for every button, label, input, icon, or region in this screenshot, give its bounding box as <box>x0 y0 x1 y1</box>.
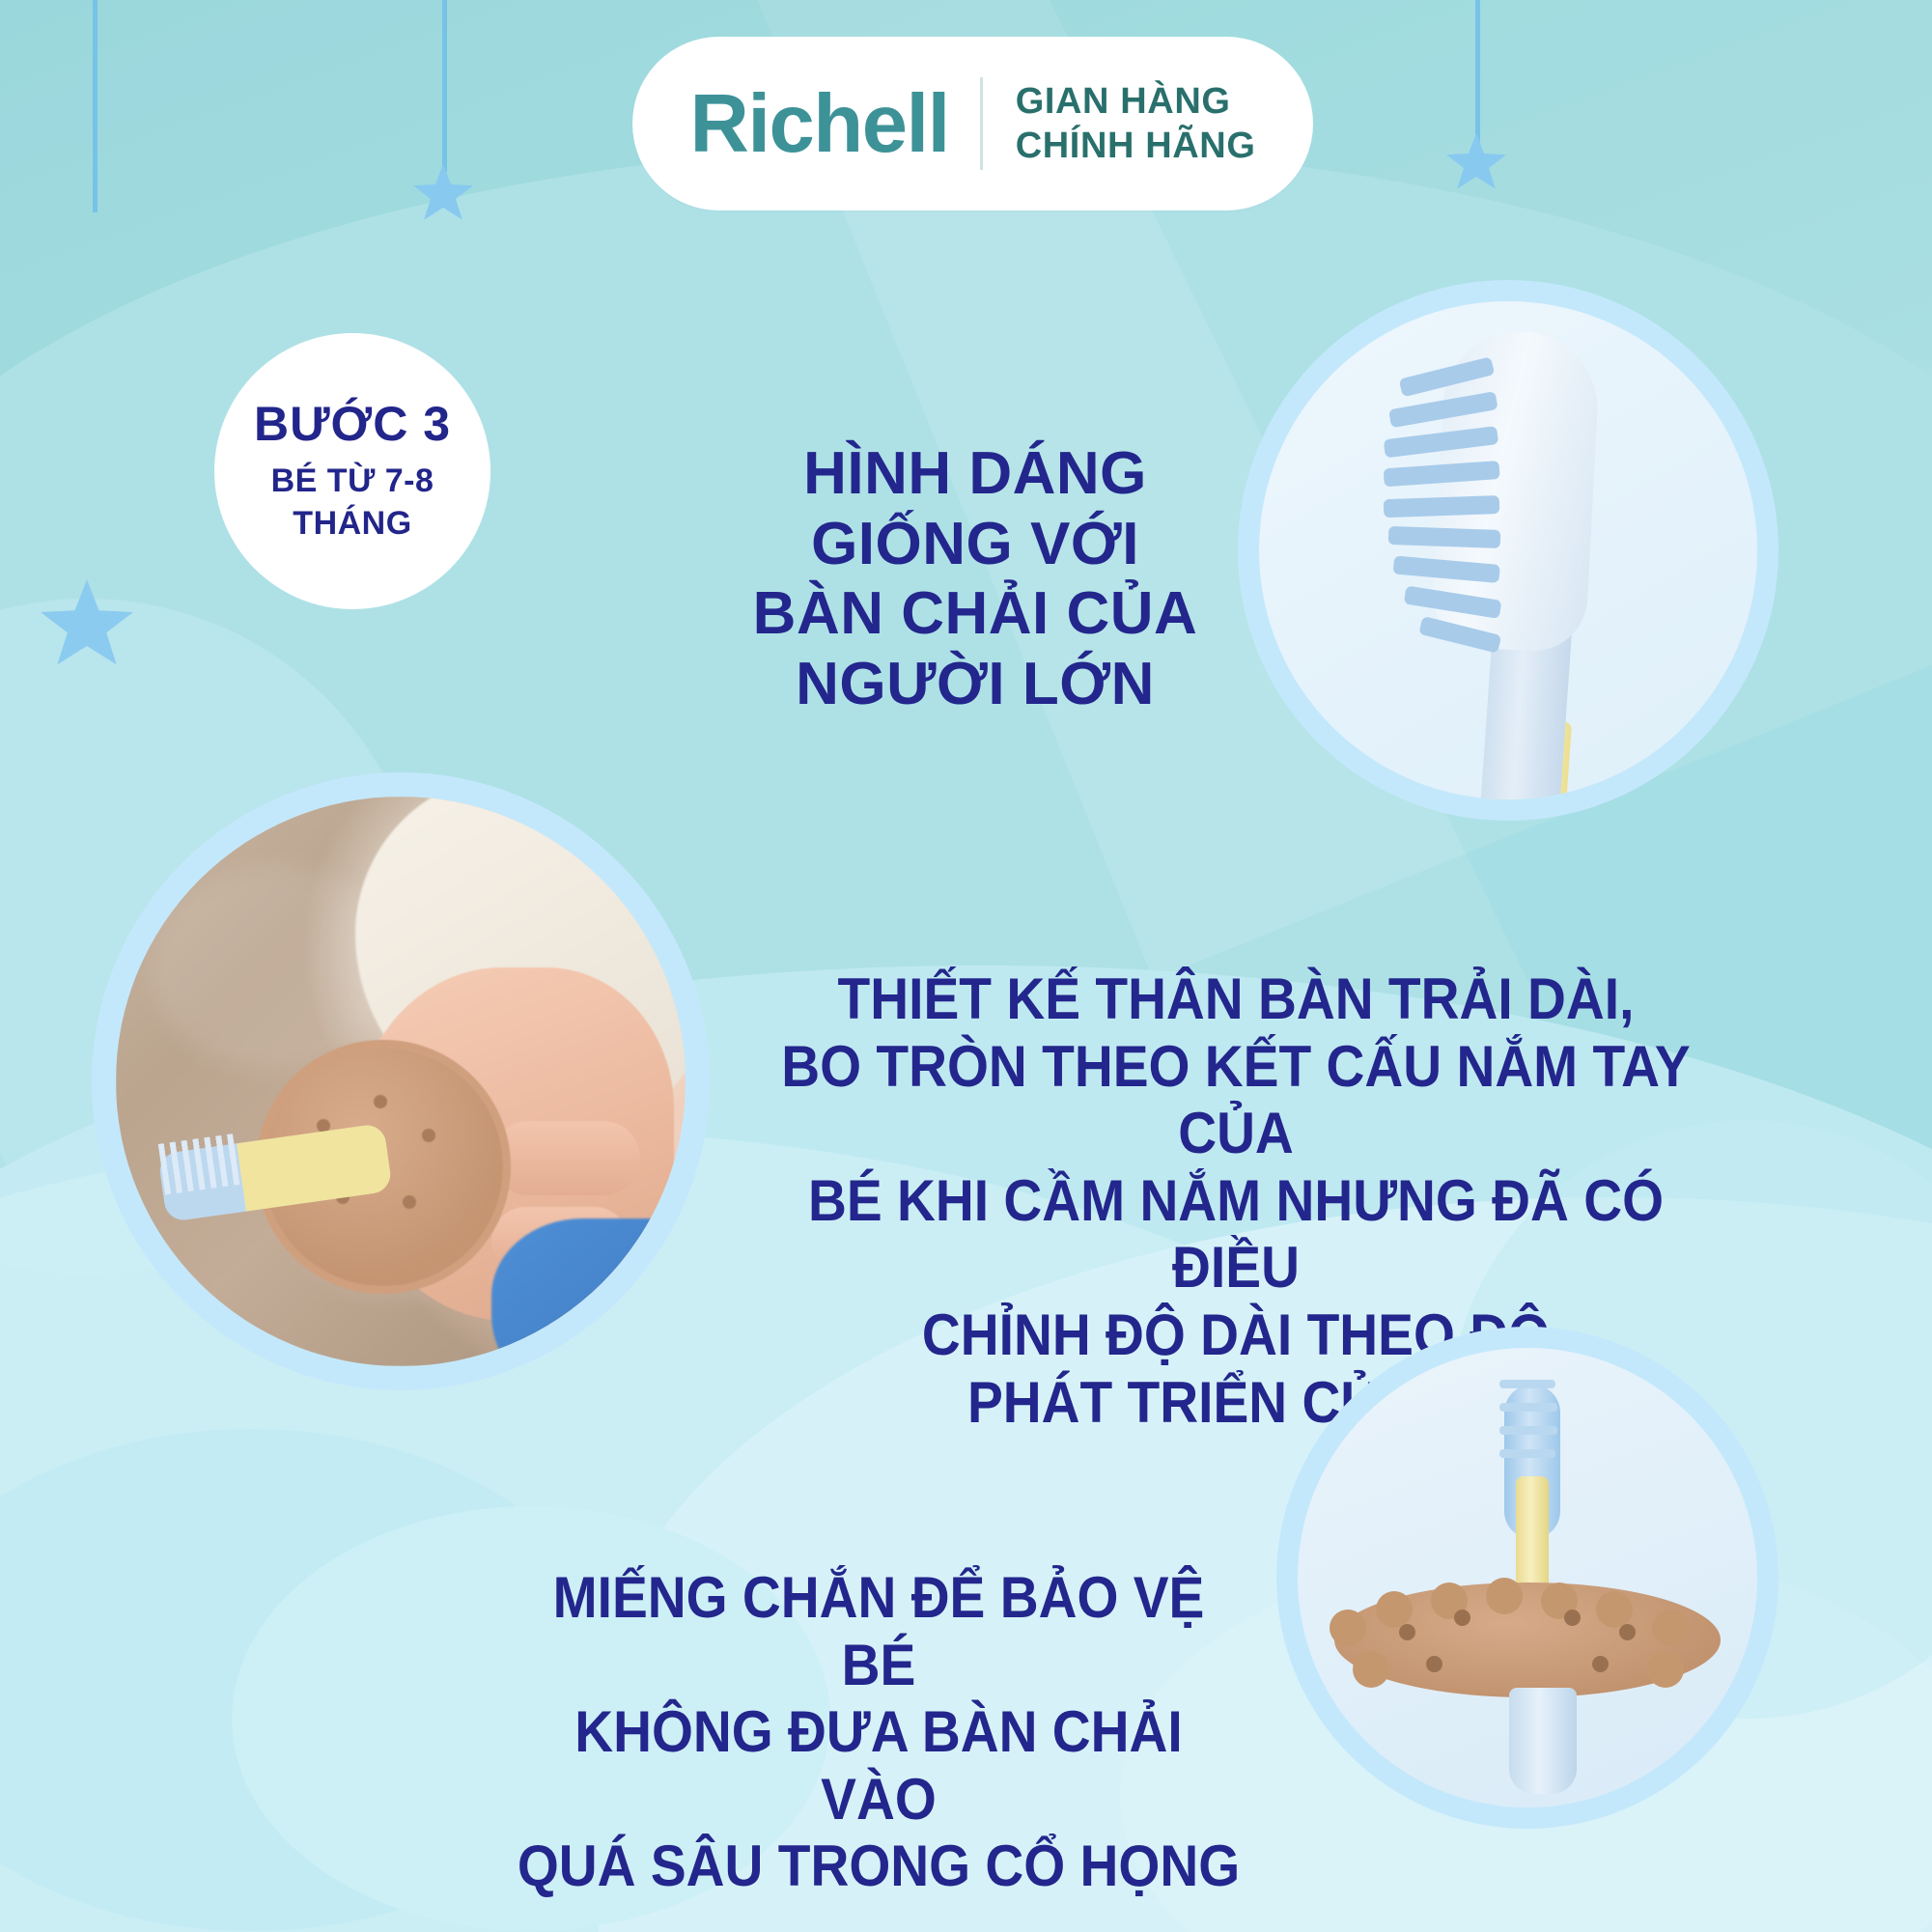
shield-hole <box>1592 1656 1609 1672</box>
shield-brush-bristle <box>1499 1403 1557 1412</box>
shield-scallop <box>1353 1651 1389 1688</box>
baby-finger <box>491 1121 639 1195</box>
hanging-string-1 <box>93 0 98 212</box>
blue-cloth <box>491 1218 686 1366</box>
section-3-headline: MIẾNG CHẮN ĐỂ BẢO VỆ BÉ KHÔNG ĐƯA BÀN CH… <box>515 1564 1243 1900</box>
shield-scallop <box>1647 1651 1684 1688</box>
shield-brush-bristle <box>1499 1449 1555 1458</box>
shield-hole <box>1399 1624 1415 1640</box>
brand-wordmark: Richell <box>690 83 980 165</box>
infographic-canvas: Richell GIAN HÀNG CHÍNH HÃNG BƯỚC 3 BÉ T… <box>0 0 1932 1932</box>
step-badge-title: BƯỚC 3 <box>254 398 451 451</box>
toothbrush-head-closeup-photo <box>1259 301 1757 799</box>
hanging-string-2 <box>442 0 447 172</box>
section-1-headline: HÌNH DÁNG GIỐNG VỚI BÀN CHẢI CỦA NGƯỜI L… <box>676 439 1274 719</box>
step-badge: BƯỚC 3 BÉ TỪ 7-8 THÁNG <box>214 333 490 609</box>
brand-tagline: GIAN HÀNG CHÍNH HÃNG <box>983 79 1256 169</box>
shield-brush-bristle <box>1499 1426 1557 1435</box>
brand-logo-pill: Richell GIAN HÀNG CHÍNH HÃNG <box>632 37 1313 210</box>
step-badge-subtitle: BÉ TỪ 7-8 THÁNG <box>214 461 490 545</box>
brush-bristle <box>1388 526 1501 548</box>
hanging-star-1 <box>413 164 473 222</box>
hanging-string-3 <box>1475 0 1480 143</box>
decorative-star-1 <box>41 579 133 668</box>
shield-brush-base <box>1509 1688 1577 1794</box>
hanging-star-2 <box>1446 133 1506 191</box>
toothbrush-safety-shield-photo <box>1298 1348 1757 1807</box>
shield-hole <box>1619 1624 1636 1640</box>
shield-scallop <box>1486 1578 1523 1614</box>
shield-scallop <box>1652 1610 1689 1646</box>
shield-brush-bristle <box>1499 1380 1555 1388</box>
baby-hand-holding-toothbrush-photo <box>116 797 686 1366</box>
shield-scallop <box>1376 1591 1413 1628</box>
